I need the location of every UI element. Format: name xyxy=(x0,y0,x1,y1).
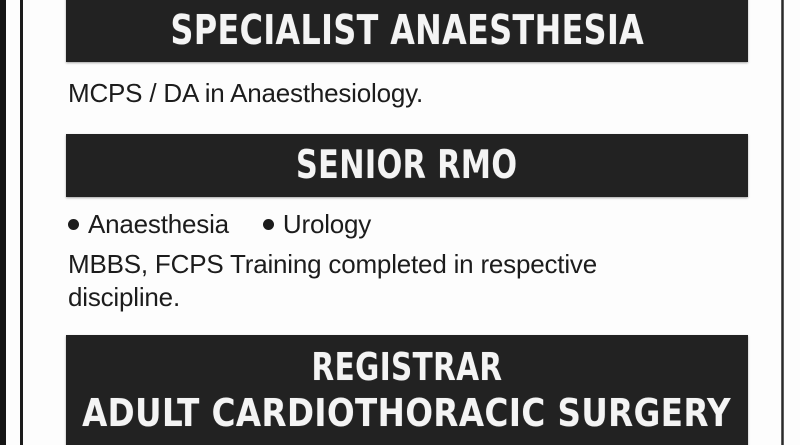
scanned-advertisement-page: SPECIALIST ANAESTHESIA MCPS / DA in Anae… xyxy=(0,0,800,445)
discipline-item-urology: Urology xyxy=(263,208,371,241)
job-banner-registrar-adult-cardiothoracic-surgery: REGISTRAR ADULT CARDIOTHORACIC SURGERY xyxy=(66,335,748,445)
page-gutter-bar xyxy=(0,0,6,445)
requirement-senior-rmo: MBBS, FCPS Training completed in respect… xyxy=(68,248,728,314)
requirement-specialist-anaesthesia: MCPS / DA in Anaesthesiology. xyxy=(68,77,423,110)
bullet-dot-icon xyxy=(68,219,79,230)
advertisement-column: SPECIALIST ANAESTHESIA MCPS / DA in Anae… xyxy=(66,0,748,445)
discipline-label-anaesthesia: Anaesthesia xyxy=(88,208,229,241)
bullet-dot-icon xyxy=(263,219,274,230)
job-title-specialist-anaesthesia: SPECIALIST ANAESTHESIA xyxy=(170,2,644,52)
discipline-list-senior-rmo: Anaesthesia Urology xyxy=(68,208,371,241)
job-title-registrar: REGISTRAR xyxy=(312,344,503,390)
job-banner-specialist-anaesthesia: SPECIALIST ANAESTHESIA xyxy=(66,0,748,62)
discipline-label-urology: Urology xyxy=(283,208,371,241)
job-subtitle-adult-cardiothoracic-surgery: ADULT CARDIOTHORACIC SURGERY xyxy=(83,390,732,436)
page-border-rule-right xyxy=(781,0,784,445)
job-title-senior-rmo: SENIOR RMO xyxy=(296,145,517,187)
discipline-item-anaesthesia: Anaesthesia xyxy=(68,208,229,241)
page-border-rule-left xyxy=(20,0,23,445)
job-banner-senior-rmo: SENIOR RMO xyxy=(66,134,748,197)
